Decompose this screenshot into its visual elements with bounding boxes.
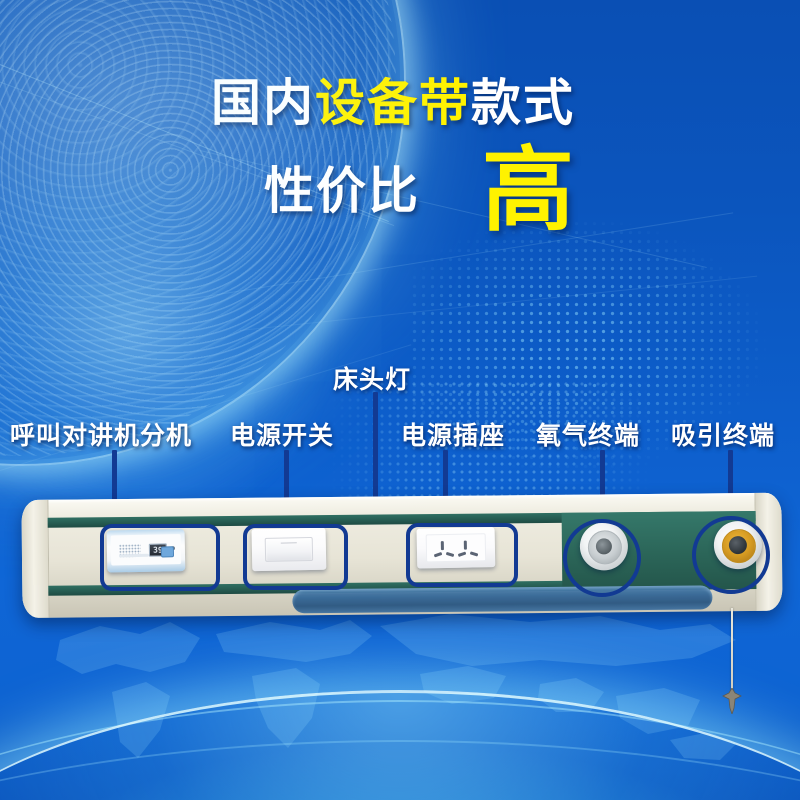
callout-label-oxygen: 氧气终端 — [536, 416, 640, 452]
headline: 国内设备带款式 性价比 高 — [0, 78, 800, 233]
pull-cord-icon[interactable] — [731, 608, 733, 696]
headline-text-style: 款式 — [471, 75, 575, 131]
callout-label-bed-lamp: 床头灯 — [333, 360, 411, 396]
highlight-suction — [692, 516, 770, 594]
highlight-oxygen — [563, 519, 641, 597]
callout-label-power-switch: 电源开关 — [230, 416, 334, 452]
light-arc-mid — [0, 700, 800, 800]
callout-label-suction: 吸引终端 — [671, 416, 775, 452]
headline-line-1: 国内设备带款式 — [0, 78, 800, 128]
panel-end-cap-left — [21, 500, 49, 618]
pull-cord-handle[interactable] — [722, 688, 742, 714]
acrylic-rail — [292, 585, 712, 613]
highlight-power-socket — [406, 523, 518, 587]
globe-rim-light — [0, 0, 406, 466]
headline-text-high: 高 — [482, 150, 576, 233]
callout-label-power-socket: 电源插座 — [401, 416, 505, 452]
product-banner: 国内设备带款式 性价比 高 呼叫对讲机分机 电源开关 床头灯 电源插座 氧气终端… — [0, 0, 800, 800]
headline-text-domestic: 国内 — [211, 75, 315, 131]
headline-line-2: 性价比 高 — [0, 150, 800, 233]
callout-label-intercom: 呼叫对讲机分机 — [10, 416, 192, 452]
light-arc-outer — [0, 740, 800, 800]
highlight-power-switch — [243, 524, 348, 590]
highlight-intercom — [100, 524, 220, 591]
light-arc-inner — [0, 690, 800, 800]
headline-text-bedhead-unit: 设备带 — [315, 75, 471, 131]
light-streak — [240, 276, 757, 331]
headline-text-value-ratio: 性价比 — [264, 166, 420, 216]
